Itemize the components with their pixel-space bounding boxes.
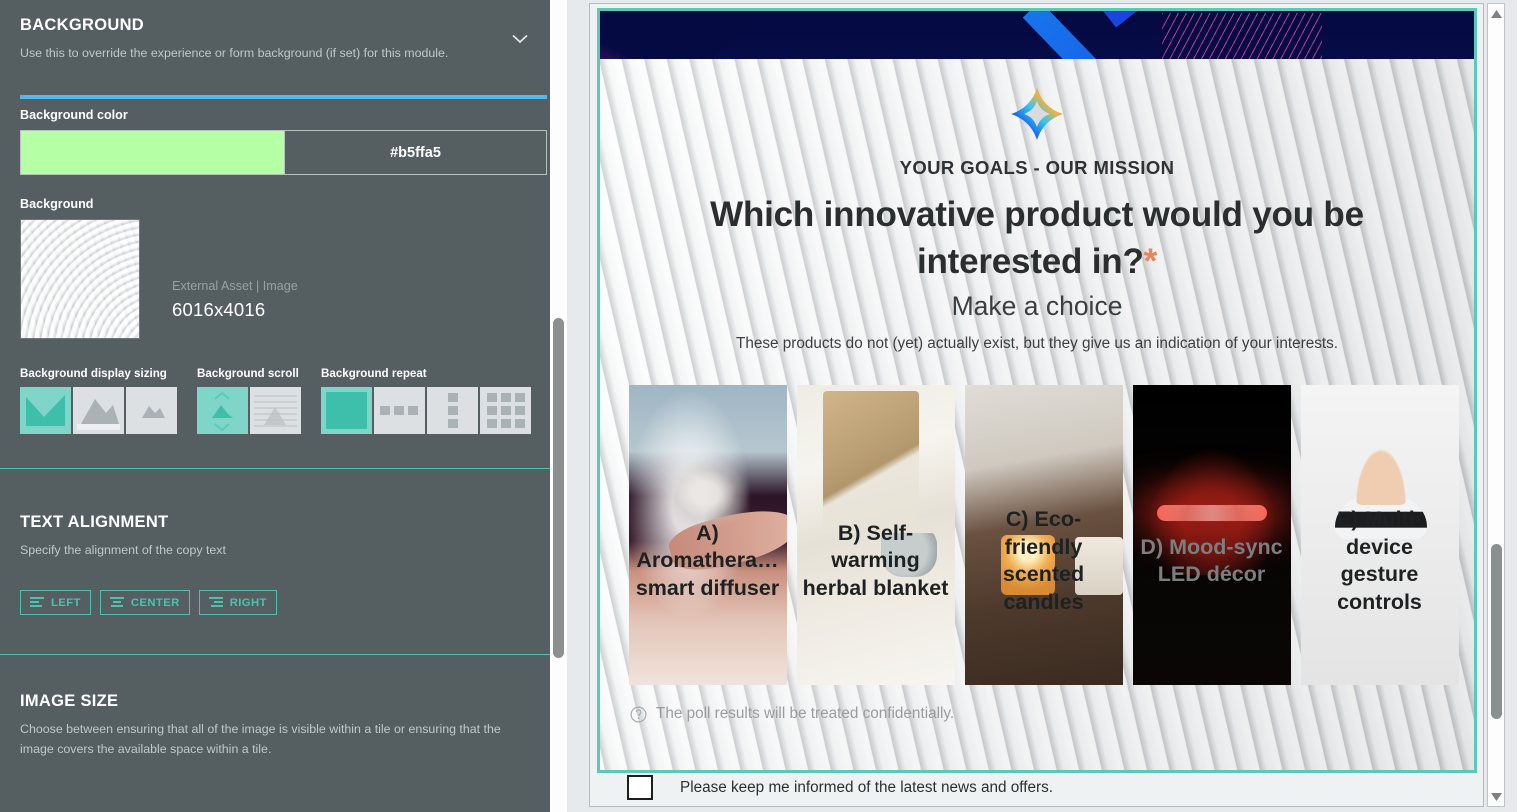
align-center-icon — [110, 597, 124, 609]
align-right-label: RIGHT — [230, 597, 267, 609]
background-asset-label: Background — [20, 197, 547, 211]
align-right-button[interactable]: RIGHT — [199, 590, 277, 615]
asset-kind: External Asset | Image — [172, 279, 298, 293]
background-section: BACKGROUND Use this to override the expe… — [0, 0, 567, 468]
editor-window: BACKGROUND Use this to override the expe… — [0, 0, 1517, 812]
background-color-label: Background color — [20, 108, 547, 122]
newsletter-checkbox[interactable] — [627, 775, 653, 800]
tile-label-a: A) Aromathera… smart diffuser — [629, 520, 787, 603]
asset-thumbnail[interactable] — [20, 219, 140, 339]
bg-repeat-both-icon[interactable] — [480, 387, 531, 434]
brand-diamond-logo — [1010, 87, 1064, 141]
asset-dimensions: 6016x4016 — [172, 299, 298, 321]
newsletter-label: Please keep me informed of the latest ne… — [680, 779, 1053, 797]
accent-bar — [20, 95, 547, 99]
color-swatch[interactable] — [21, 131, 284, 174]
tile-label-d: D) Mood-sync LED décor — [1133, 534, 1291, 589]
selected-module-frame[interactable]: YOUR GOALS - OUR MISSION Which innovativ… — [597, 8, 1477, 773]
scroll-up-arrow-icon[interactable] — [1488, 5, 1504, 22]
preview-canvas: YOUR GOALS - OUR MISSION Which innovativ… — [589, 3, 1484, 807]
image-size-section: IMAGE SIZE Choose between ensuring that … — [0, 655, 567, 758]
color-hex-value[interactable]: #b5ffa5 — [284, 131, 546, 174]
module-content: YOUR GOALS - OUR MISSION Which innovativ… — [600, 87, 1474, 723]
background-scroll-label: Background scroll — [197, 367, 301, 380]
bg-scroll-fixed-icon[interactable] — [250, 387, 301, 434]
align-left-label: LEFT — [51, 597, 81, 609]
confidentiality-note: The poll results will be treated confide… — [630, 705, 1474, 723]
bg-scroll-scroll-icon[interactable] — [197, 387, 248, 434]
background-color-field[interactable]: #b5ffa5 — [20, 130, 547, 175]
background-section-description: Use this to override the experience or f… — [20, 44, 547, 63]
confidentiality-text: The poll results will be treated confide… — [656, 705, 954, 723]
text-alignment-buttons: LEFT CENTER RIGHT — [20, 590, 547, 615]
image-size-title: IMAGE SIZE — [20, 692, 547, 711]
tile-label-e: E) Multi-device gesture controls — [1301, 506, 1459, 616]
text-alignment-description: Specify the alignment of the copy text — [20, 541, 547, 560]
bg-repeat-none-icon[interactable] — [321, 387, 372, 434]
banner-pink-arc — [600, 11, 744, 59]
module-background-image: YOUR GOALS - OUR MISSION Which innovativ… — [600, 59, 1474, 770]
newsletter-consent-row: Please keep me informed of the latest ne… — [597, 773, 1477, 802]
banner-pink-lines — [1162, 13, 1322, 59]
background-option-groups: Background display sizing — [20, 367, 547, 434]
tile-label-b: B) Self-warming herbal blanket — [797, 520, 955, 603]
module-kicker: YOUR GOALS - OUR MISSION — [600, 157, 1474, 179]
align-left-icon — [30, 597, 44, 609]
background-display-sizing-group: Background display sizing — [20, 367, 177, 434]
asset-metadata: External Asset | Image 6016x4016 — [172, 219, 298, 321]
question-circle-icon — [630, 706, 647, 723]
image-size-description: Choose between ensuring that all of the … — [20, 720, 530, 758]
background-repeat-group: Background repeat — [321, 367, 531, 434]
tile-label-c: C) Eco-friendly scented candles — [965, 506, 1123, 616]
brand-banner — [600, 11, 1474, 59]
bg-repeat-x-icon[interactable] — [374, 387, 425, 434]
preview-panel: YOUR GOALS - OUR MISSION Which innovativ… — [567, 0, 1517, 812]
required-marker: * — [1144, 242, 1157, 281]
module-headline: Which innovative product would you be in… — [667, 192, 1407, 285]
scroll-down-arrow-icon[interactable] — [1488, 788, 1504, 805]
preview-scrollbar[interactable] — [1487, 3, 1505, 807]
bg-sizing-cover-icon[interactable] — [20, 387, 71, 434]
settings-scrollbar[interactable] — [550, 0, 567, 812]
align-center-label: CENTER — [131, 597, 180, 609]
choice-tiles: A) Aromathera… smart diffuser B) Self-wa… — [630, 385, 1457, 685]
align-left-button[interactable]: LEFT — [20, 590, 91, 615]
choice-tile-a[interactable]: A) Aromathera… smart diffuser — [629, 385, 787, 685]
bg-repeat-y-icon[interactable] — [427, 387, 478, 434]
choice-tile-c[interactable]: C) Eco-friendly scented candles — [965, 385, 1123, 685]
text-alignment-section: TEXT ALIGNMENT Specify the alignment of … — [0, 469, 567, 654]
background-asset-row: External Asset | Image 6016x4016 — [20, 219, 547, 339]
preview-scrollbar-thumb[interactable] — [1491, 544, 1502, 719]
chevron-down-icon[interactable] — [509, 28, 531, 50]
settings-scrollbar-thumb[interactable] — [553, 318, 564, 658]
bg-sizing-auto-icon[interactable] — [126, 387, 177, 434]
module-subheadline: Make a choice — [600, 291, 1474, 322]
module-headline-text: Which innovative product would you be in… — [710, 195, 1364, 281]
choice-tile-d[interactable]: D) Mood-sync LED décor — [1133, 385, 1291, 685]
module-helper-text: These products do not (yet) actually exi… — [600, 335, 1474, 353]
background-repeat-label: Background repeat — [321, 367, 531, 380]
choice-tile-b[interactable]: B) Self-warming herbal blanket — [797, 385, 955, 685]
background-scroll-group: Background scroll — [197, 367, 301, 434]
bg-sizing-contain-icon[interactable] — [73, 387, 124, 434]
settings-panel: BACKGROUND Use this to override the expe… — [0, 0, 567, 812]
background-display-sizing-label: Background display sizing — [20, 367, 177, 380]
text-alignment-title: TEXT ALIGNMENT — [20, 513, 547, 532]
background-section-title: BACKGROUND — [20, 16, 547, 35]
choice-tile-e[interactable]: E) Multi-device gesture controls — [1301, 385, 1459, 685]
align-right-icon — [209, 597, 223, 609]
align-center-button[interactable]: CENTER — [100, 590, 190, 615]
